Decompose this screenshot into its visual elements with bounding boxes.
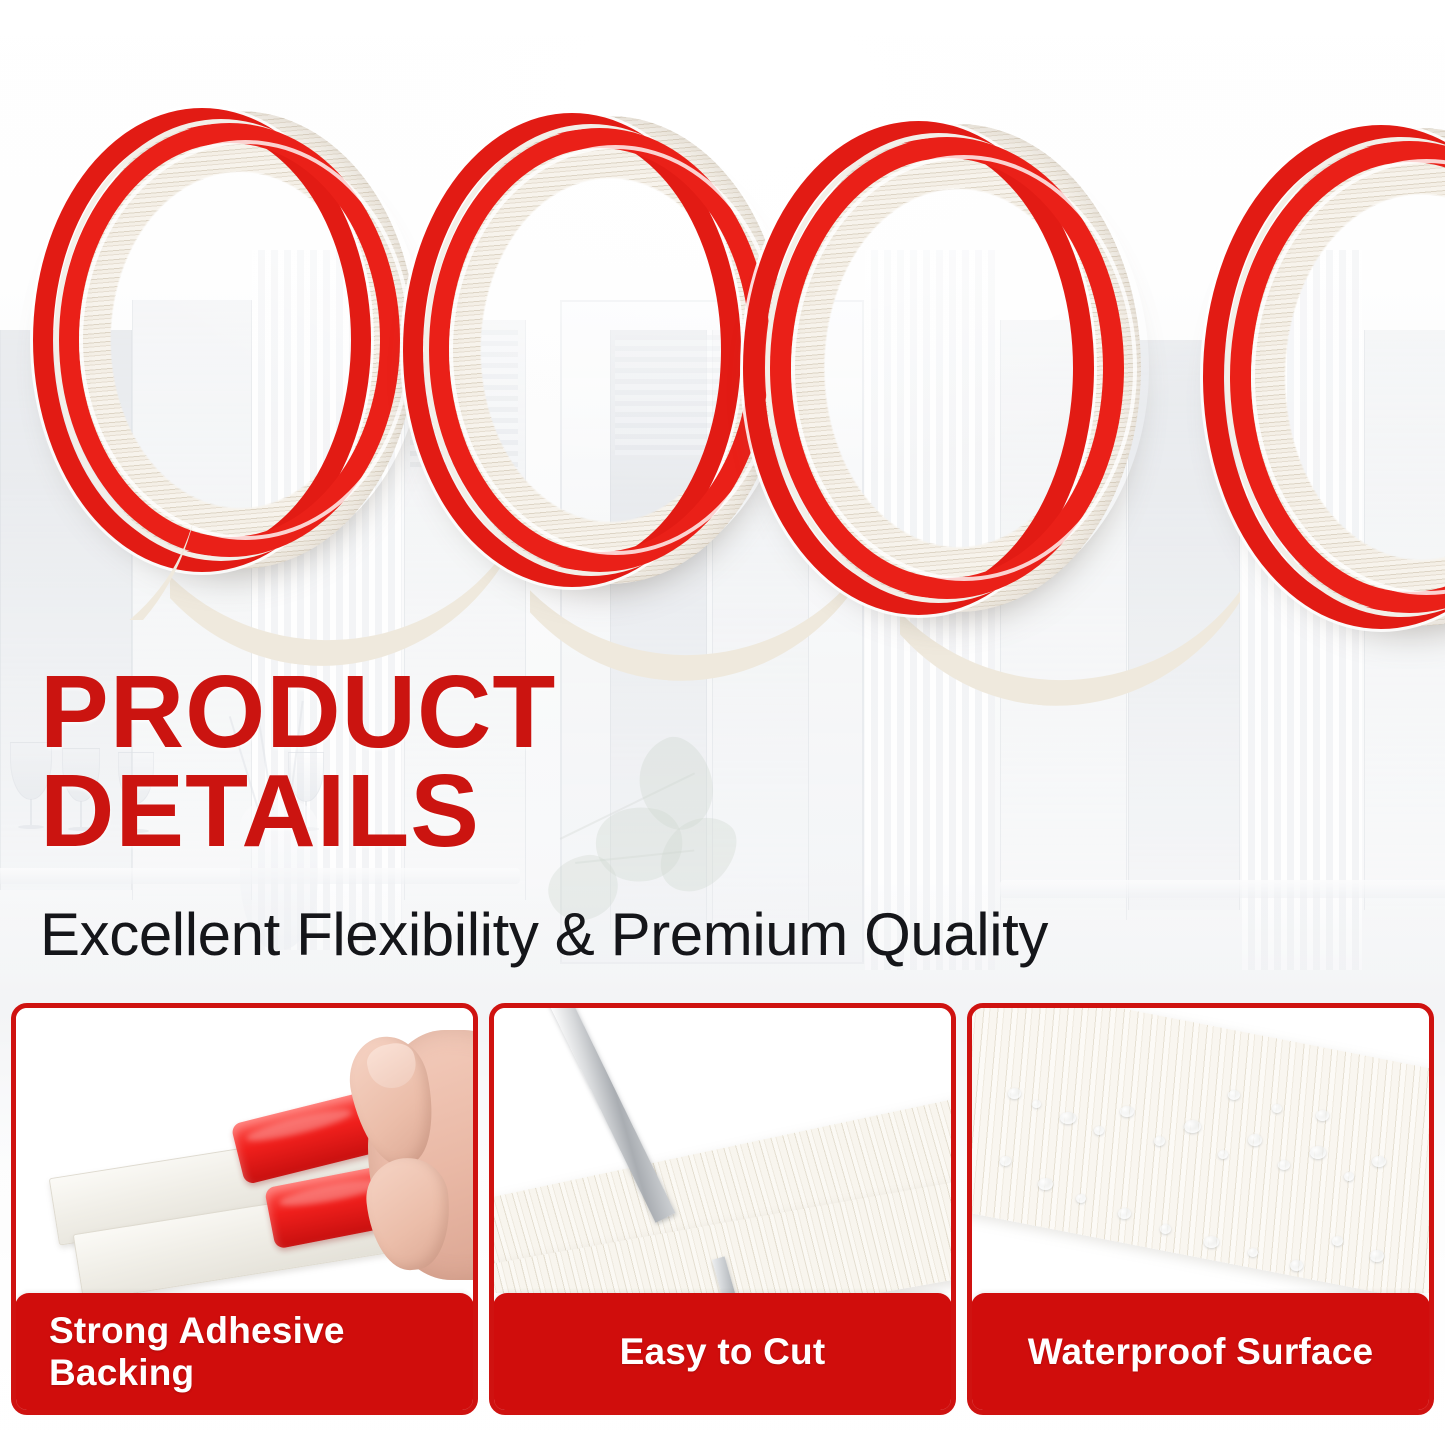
water-droplet xyxy=(1344,1172,1354,1181)
feature-caption: Strong Adhesive Backing xyxy=(15,1293,474,1411)
water-droplet xyxy=(1008,1088,1021,1099)
water-droplet xyxy=(1278,1160,1290,1170)
tape-coil-loop xyxy=(740,118,1155,618)
subheadline: Excellent Flexibility & Premium Quality xyxy=(40,902,1340,968)
coiled-tape-hero xyxy=(0,0,1445,720)
water-droplet xyxy=(1076,1194,1086,1203)
hand-peeling-adhesive-liner-photo xyxy=(16,1008,473,1293)
water-droplet xyxy=(1038,1178,1053,1190)
water-droplet xyxy=(1228,1090,1240,1100)
water-droplet xyxy=(1154,1136,1165,1146)
water-droplet xyxy=(1310,1146,1326,1159)
water-droplet xyxy=(1000,1156,1011,1166)
water-droplets-on-tape-photo xyxy=(972,1008,1429,1293)
woodgrain-tape xyxy=(972,1008,1429,1293)
feature-caption: Waterproof Surface xyxy=(971,1293,1430,1411)
water-droplet xyxy=(1248,1134,1262,1146)
water-droplet xyxy=(1120,1106,1134,1117)
water-droplet xyxy=(1316,1110,1329,1121)
water-droplet xyxy=(1370,1250,1384,1262)
headline-line-1: PRODUCT xyxy=(40,654,556,769)
water-droplet xyxy=(1094,1126,1104,1135)
water-droplet xyxy=(1332,1236,1343,1246)
water-droplet xyxy=(1184,1120,1201,1133)
product-detail-infographic: PRODUCT DETAILS Excellent Flexibility & … xyxy=(0,0,1445,1445)
water-droplet xyxy=(1272,1104,1282,1113)
tape-tail xyxy=(0,490,200,620)
headline-line-2: DETAILS xyxy=(40,762,1190,861)
water-droplet xyxy=(1248,1248,1258,1257)
feature-card-adhesive[interactable]: Strong Adhesive Backing xyxy=(11,1003,478,1415)
water-droplet xyxy=(1032,1100,1041,1108)
headline-block: PRODUCT DETAILS xyxy=(40,663,1190,861)
water-droplet xyxy=(1060,1112,1076,1124)
feature-card-waterproof[interactable]: Waterproof Surface xyxy=(967,1003,1434,1415)
water-droplet xyxy=(1372,1156,1386,1167)
water-droplet xyxy=(1204,1236,1219,1248)
water-droplet xyxy=(1118,1208,1131,1219)
tape-coil-loop xyxy=(1200,122,1445,632)
feature-card-easy-to-cut[interactable]: Easy to Cut xyxy=(489,1003,956,1415)
feature-caption: Easy to Cut xyxy=(493,1293,952,1411)
feature-panel-row: Strong Adhesive Backing Easy to Cut xyxy=(11,1003,1434,1415)
water-droplet xyxy=(1160,1224,1171,1234)
water-droplet xyxy=(1218,1150,1228,1159)
scissors-cutting-tape-photo xyxy=(494,1008,951,1293)
page-title: PRODUCT DETAILS xyxy=(40,663,1190,861)
water-droplet xyxy=(1290,1260,1303,1271)
